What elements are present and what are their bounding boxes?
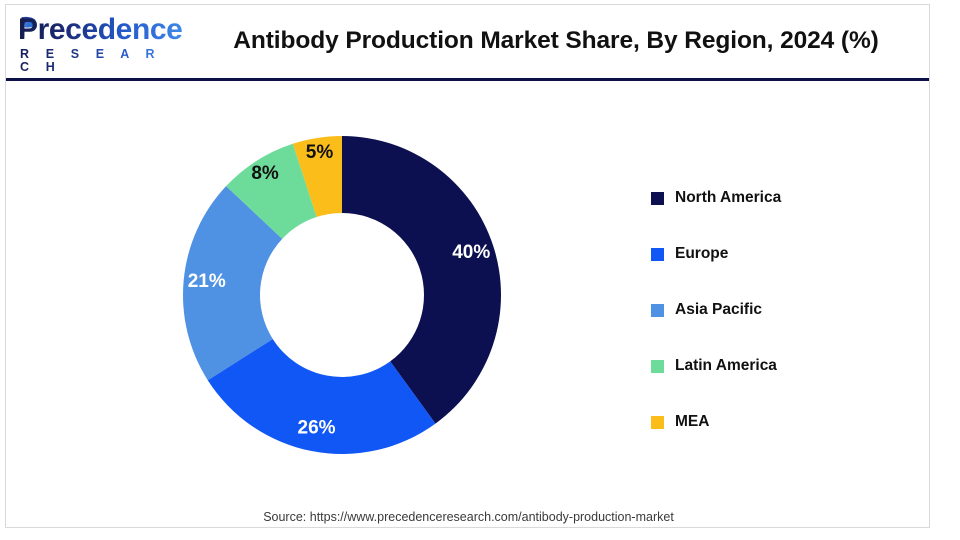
legend-item-label: Europe (675, 245, 728, 263)
logo-subtext: R E S E A R C H (20, 48, 174, 73)
slice-value-label: 26% (298, 418, 336, 439)
legend-swatch-icon (651, 304, 664, 317)
legend-item[interactable]: Europe (651, 226, 921, 282)
slice-value-label: 5% (306, 142, 334, 163)
donut-chart: 40%26%21%8%5% (6, 81, 626, 491)
legend-item-label: Latin America (675, 357, 777, 375)
legend-swatch-icon (651, 248, 664, 261)
legend-item[interactable]: Asia Pacific (651, 282, 921, 338)
legend: North AmericaEuropeAsia PacificLatin Ame… (651, 170, 921, 450)
header: Precedence R E S E A R C H Antibody Prod… (6, 5, 929, 79)
legend-item-label: Asia Pacific (675, 301, 762, 319)
legend-item-label: North America (675, 189, 781, 207)
legend-item-label: MEA (675, 413, 709, 431)
slice-value-label: 40% (452, 242, 490, 263)
precedence-research-logo: Precedence R E S E A R C H (14, 13, 174, 69)
slice-value-label: 8% (251, 163, 279, 184)
chart-card: Precedence R E S E A R C H Antibody Prod… (5, 4, 930, 528)
legend-item[interactable]: Latin America (651, 338, 921, 394)
legend-swatch-icon (651, 416, 664, 429)
donut-chart-svg: 40%26%21%8%5% (6, 81, 626, 491)
logo-wordmark: Precedence (18, 15, 182, 45)
legend-item[interactable]: North America (651, 170, 921, 226)
legend-swatch-icon (651, 360, 664, 373)
legend-swatch-icon (651, 192, 664, 205)
page-title: Antibody Production Market Share, By Reg… (206, 27, 906, 55)
slice-value-label: 21% (188, 271, 226, 292)
source-note: Source: https://www.precedenceresearch.c… (6, 510, 931, 524)
donut-slices (183, 136, 501, 454)
legend-item[interactable]: MEA (651, 394, 921, 450)
